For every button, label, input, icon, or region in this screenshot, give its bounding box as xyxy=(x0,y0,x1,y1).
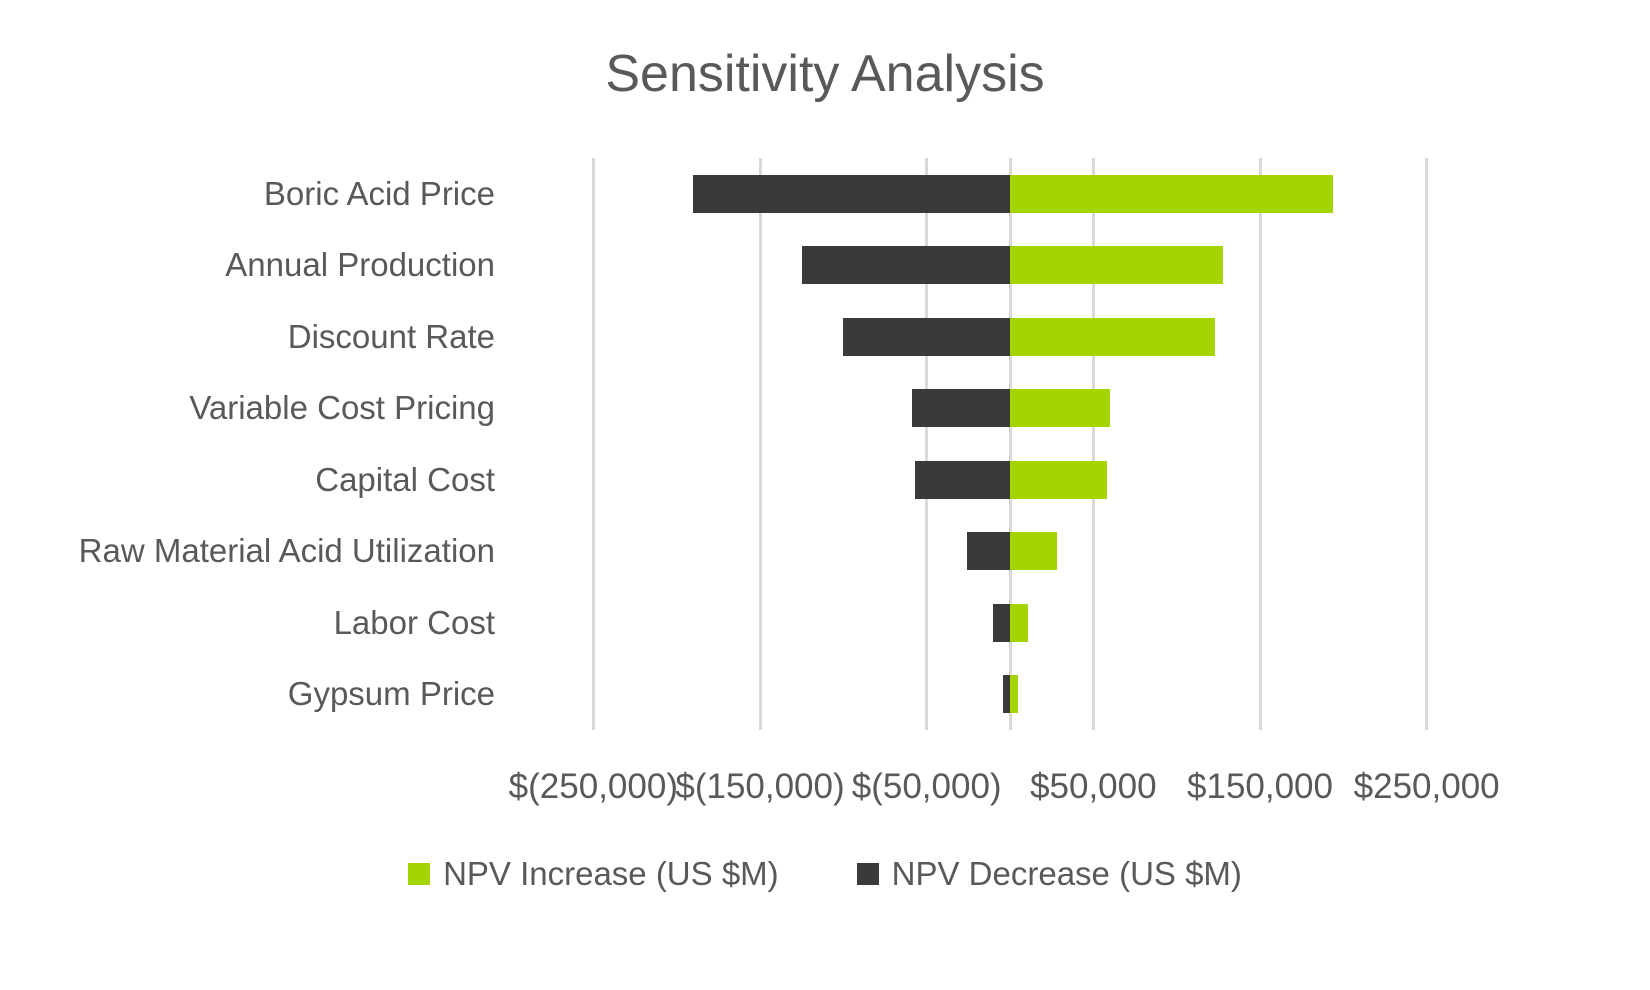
bar-npv-increase[interactable] xyxy=(1010,604,1028,642)
y-axis-label-7: Gypsum Price xyxy=(0,676,495,712)
x-tick-label-5: $250,000 xyxy=(1354,765,1500,809)
x-tick-label-2: $(50,000) xyxy=(852,765,1002,809)
chart-title: Sensitivity Analysis xyxy=(0,44,1650,104)
legend-label: NPV Decrease (US $M) xyxy=(892,855,1242,893)
bar-npv-increase[interactable] xyxy=(1010,175,1333,213)
plot-area xyxy=(510,158,1510,730)
bar-npv-decrease[interactable] xyxy=(843,318,1010,356)
sensitivity-analysis-chart: Sensitivity Analysis Boric Acid PriceAnn… xyxy=(0,0,1650,990)
bar-npv-decrease[interactable] xyxy=(1003,675,1010,713)
bar-npv-increase[interactable] xyxy=(1010,389,1110,427)
bar-npv-increase[interactable] xyxy=(1010,675,1018,713)
y-axis-label-1: Annual Production xyxy=(0,247,495,283)
y-axis-label-4: Capital Cost xyxy=(0,462,495,498)
y-axis-label-5: Raw Material Acid Utilization xyxy=(0,533,495,569)
bar-npv-increase[interactable] xyxy=(1010,532,1057,570)
square-swatch-green-icon xyxy=(408,863,430,885)
bar-npv-decrease[interactable] xyxy=(912,389,1010,427)
bar-row xyxy=(510,158,1510,230)
y-axis-label-6: Labor Cost xyxy=(0,605,495,641)
bar-npv-decrease[interactable] xyxy=(967,532,1010,570)
x-tick-label-0: $(250,000) xyxy=(509,765,678,809)
bar-row xyxy=(510,587,1510,659)
y-axis-label-0: Boric Acid Price xyxy=(0,176,495,212)
x-tick-label-4: $150,000 xyxy=(1187,765,1333,809)
x-axis-tick-labels: $(250,000)$(150,000)$(50,000)$50,000$150… xyxy=(510,765,1510,815)
chart-legend: NPV Increase (US $M)NPV Decrease (US $M) xyxy=(0,855,1650,893)
legend-item-0[interactable]: NPV Increase (US $M) xyxy=(408,855,779,893)
bar-npv-decrease[interactable] xyxy=(693,175,1010,213)
bar-npv-decrease[interactable] xyxy=(993,604,1010,642)
bar-npv-increase[interactable] xyxy=(1010,461,1107,499)
square-swatch-dark-icon xyxy=(857,863,879,885)
y-axis-category-labels: Boric Acid PriceAnnual ProductionDiscoun… xyxy=(0,158,495,730)
legend-item-1[interactable]: NPV Decrease (US $M) xyxy=(857,855,1242,893)
x-tick-label-3: $50,000 xyxy=(1030,765,1157,809)
bar-row xyxy=(510,659,1510,731)
bar-row xyxy=(510,230,1510,302)
bar-npv-increase[interactable] xyxy=(1010,246,1223,284)
bar-npv-increase[interactable] xyxy=(1010,318,1215,356)
bar-row xyxy=(510,373,1510,445)
y-axis-label-3: Variable Cost Pricing xyxy=(0,390,495,426)
bar-rows xyxy=(510,158,1510,730)
y-axis-label-2: Discount Rate xyxy=(0,319,495,355)
bar-npv-decrease[interactable] xyxy=(802,246,1010,284)
bar-row xyxy=(510,301,1510,373)
bar-npv-decrease[interactable] xyxy=(915,461,1010,499)
legend-label: NPV Increase (US $M) xyxy=(443,855,779,893)
x-tick-label-1: $(150,000) xyxy=(675,765,844,809)
bar-row xyxy=(510,516,1510,588)
bar-row xyxy=(510,444,1510,516)
